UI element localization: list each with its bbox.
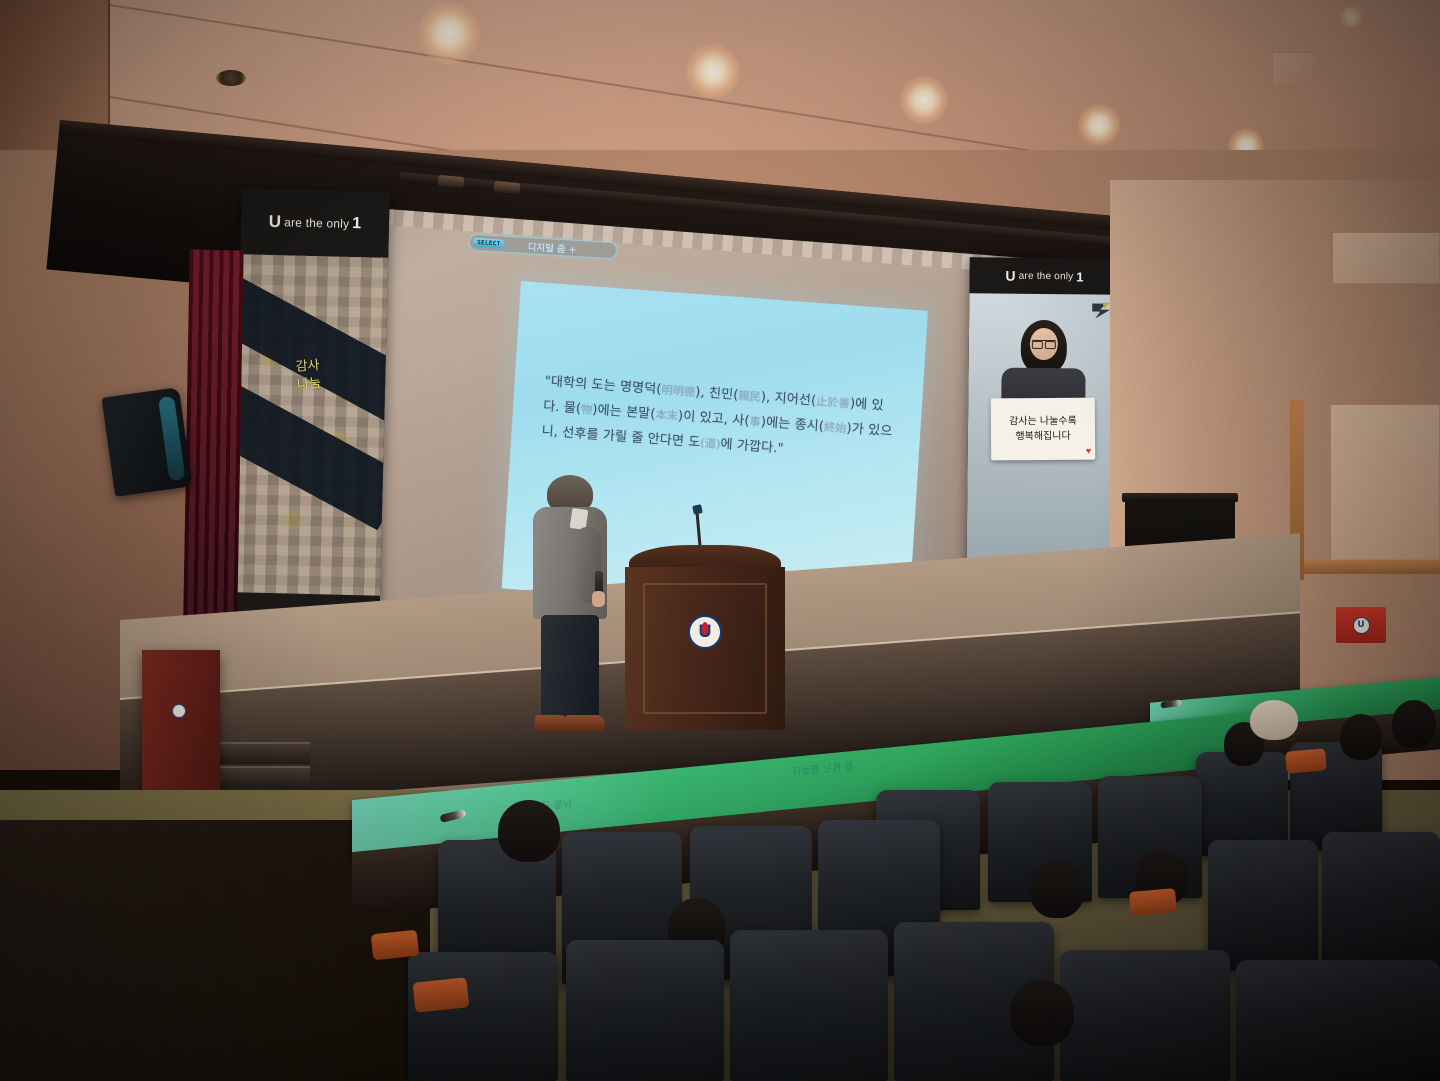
- auditorium-seat[interactable]: [1322, 832, 1440, 970]
- ceiling-downlight: [418, 2, 480, 64]
- audience-head: [1030, 860, 1084, 918]
- sponsor-logo-icon: [1090, 300, 1112, 320]
- right-banner-photo: 감사는 나눌수록 행복해집니다 ♥: [967, 293, 1120, 567]
- slide-line2-c: )에는 본말(: [592, 403, 656, 423]
- ceiling-downlight: [1078, 104, 1120, 146]
- ceiling-downlight: [686, 44, 740, 98]
- right-banner-header: U are the only 1: [969, 257, 1119, 295]
- stage-curtain-left: [182, 250, 243, 671]
- slide-hanja-chinmin: 親民: [738, 389, 761, 404]
- speaker-hand: [592, 591, 605, 607]
- slide-text: "대학의 도는 명명덕(明明德), 친민(親民), 지어선(止於善)에 있다. …: [541, 369, 897, 470]
- osd-select-badge: SELECT: [473, 238, 505, 249]
- seat-armrest: [1129, 888, 1177, 916]
- speaker-shoe: [565, 715, 605, 731]
- university-emblem-icon: U: [688, 615, 722, 649]
- red-emblem-sign: U: [1336, 607, 1386, 643]
- side-lectern-emblem-icon: [172, 704, 186, 718]
- slide-line4-b: 에 가깝다.": [720, 437, 784, 457]
- banner-tagline: are the only: [1019, 270, 1074, 282]
- banner-u-letter: U: [268, 212, 281, 232]
- seat-armrest: [413, 977, 470, 1012]
- ceiling-downlight: [900, 76, 948, 124]
- auditorium-seat[interactable]: [1236, 960, 1440, 1081]
- truss-lamp: [438, 175, 465, 188]
- ceiling-light-socket: [216, 70, 246, 86]
- auditorium-seat[interactable]: [1060, 950, 1230, 1081]
- auditorium-seat[interactable]: [730, 930, 888, 1081]
- audience-head: [1250, 700, 1298, 740]
- sign-emblem-letter: U: [1353, 617, 1370, 634]
- audience-head: [1010, 980, 1074, 1046]
- left-banner-handwriting: 감사 나눔: [272, 355, 345, 396]
- banner-one-letter: 1: [352, 215, 362, 233]
- truss-lamp: [494, 181, 521, 194]
- podium-microphone-icon: [692, 504, 703, 515]
- slide-line1-a: "대학의 도는 명명덕(: [544, 374, 662, 398]
- ceiling-vent: [1272, 52, 1314, 84]
- auditorium-seat[interactable]: [408, 952, 558, 1081]
- piano-lid: [1122, 493, 1238, 502]
- left-banner: U are the only 1 감사 나눔 U1대학교: [230, 188, 390, 671]
- seat-armrest: [371, 930, 419, 961]
- podium-body: U: [625, 567, 785, 730]
- wall-panel: [1330, 404, 1440, 560]
- banner-u-letter: U: [1005, 268, 1015, 284]
- audience-head: [1340, 714, 1382, 760]
- speaker-shoe: [535, 715, 569, 731]
- sign-line-1: 감사는 나눌수록: [1009, 414, 1077, 429]
- slide-line3-a: 에는 종시(: [766, 415, 825, 434]
- podium: U: [625, 545, 785, 730]
- slide-hanja-bonmal: 本末: [655, 408, 678, 423]
- sign-line-2: 행복해집니다: [1015, 429, 1070, 444]
- seat-armrest: [1285, 748, 1327, 773]
- left-banner-header: U are the only 1: [240, 188, 390, 258]
- slide-hanja-eoseon: 於善: [827, 396, 850, 411]
- audience-head: [1392, 700, 1436, 748]
- auditorium-scene: "대학의 도는 명명덕(明明德), 친민(親民), 지어선(止於善)에 있다. …: [0, 0, 1440, 1081]
- slide-hanja-jongsi: 終始: [824, 421, 847, 436]
- emblem-flame-icon: [702, 622, 709, 635]
- slide-hanja-myeongmyeongdeok: 明明德: [661, 384, 696, 399]
- slide-line1-b: ), 친민(: [695, 385, 739, 403]
- speaker-trousers: [541, 615, 599, 719]
- banner-one-letter: 1: [1076, 269, 1084, 284]
- auditorium-seat[interactable]: [566, 940, 724, 1081]
- banner-tagline: are the only: [284, 215, 349, 231]
- audience-head: [498, 800, 560, 862]
- heart-icon: ♥: [1086, 446, 1091, 456]
- wall-wood-trim: [1290, 560, 1440, 574]
- slide-line1-c: ), 지어선(: [760, 390, 816, 409]
- desk-reflected-text: 선후를 가릴 줄: [792, 759, 854, 780]
- slide-line2-d: )이 있고, 사(: [678, 409, 751, 429]
- ceiling-downlight: [1338, 6, 1364, 28]
- wall-upper-panel: [1332, 232, 1440, 284]
- glasses-icon: [1032, 340, 1056, 346]
- slide-hanja-do: (道): [700, 437, 721, 451]
- gratitude-sign: 감사는 나눌수록 행복해집니다 ♥: [991, 398, 1095, 461]
- speaker-person: [519, 475, 615, 745]
- wall-speaker: [101, 387, 192, 497]
